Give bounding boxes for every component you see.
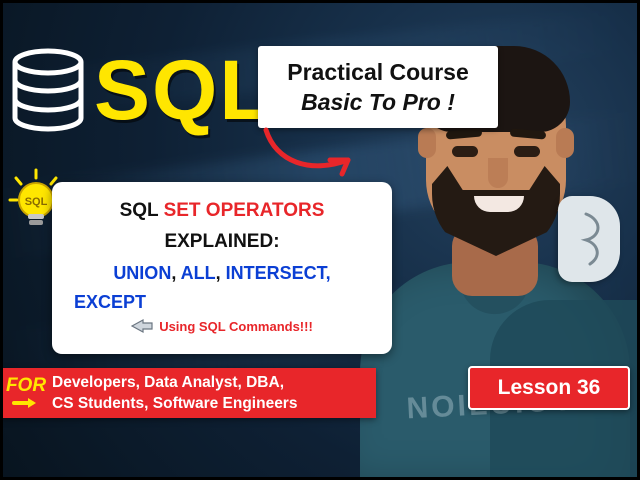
operators-sep-1: , — [171, 263, 180, 283]
presenter-eye-left — [452, 146, 478, 157]
lesson-badge-label: Lesson 36 — [498, 376, 601, 400]
title-line-2: EXPLAINED: — [64, 226, 380, 258]
operator-union: UNION — [113, 263, 171, 283]
operators-line-1: UNION, ALL, INTERSECT, — [64, 258, 380, 288]
title-accent: SET OPERATORS — [164, 200, 325, 221]
curved-arrow-icon — [262, 126, 372, 180]
microphone-swirl-icon — [576, 206, 616, 270]
title-line-1: SQL SET OPERATORS — [64, 196, 380, 226]
title-prefix: SQL — [120, 200, 164, 221]
presenter-nose — [488, 158, 508, 188]
course-badge-line1: Practical Course — [287, 57, 469, 87]
video-thumbnail: NOILUIOV SQL Practical Course Basic To P… — [0, 0, 640, 480]
course-badge: Practical Course Basic To Pro ! — [258, 46, 498, 128]
lesson-badge: Lesson 36 — [468, 366, 630, 410]
title-card: SQL SET OPERATORS EXPLAINED: UNION, ALL,… — [52, 182, 392, 354]
operator-all: ALL — [181, 263, 216, 283]
audience-line-1: Developers, Data Analyst, DBA, — [52, 372, 297, 393]
operators-sep-2: , — [216, 263, 226, 283]
for-block: FOR — [0, 368, 52, 418]
presenter-ear-right — [556, 128, 574, 158]
operator-except: EXCEPT — [64, 288, 380, 316]
svg-text:SQL: SQL — [25, 196, 48, 208]
sql-logo-text: SQL — [94, 48, 273, 132]
card-footer: Using SQL Commands!!! — [64, 318, 380, 334]
presenter-ear-left — [418, 128, 436, 158]
operator-intersect: INTERSECT, — [226, 263, 331, 283]
presenter-eye-right — [514, 146, 540, 157]
audience-banner: FOR Developers, Data Analyst, DBA, CS St… — [0, 368, 376, 418]
for-label: FOR — [6, 376, 46, 396]
audience-text: Developers, Data Analyst, DBA, CS Studen… — [52, 372, 297, 414]
audience-line-2: CS Students, Software Engineers — [52, 393, 297, 414]
card-footer-text: Using SQL Commands!!! — [159, 319, 313, 334]
sql-logo: SQL — [10, 48, 273, 132]
database-icon — [10, 48, 86, 132]
course-badge-line2: Basic To Pro ! — [301, 87, 455, 117]
mouse-cursor-icon — [131, 318, 153, 334]
arrow-right-icon — [12, 396, 40, 410]
